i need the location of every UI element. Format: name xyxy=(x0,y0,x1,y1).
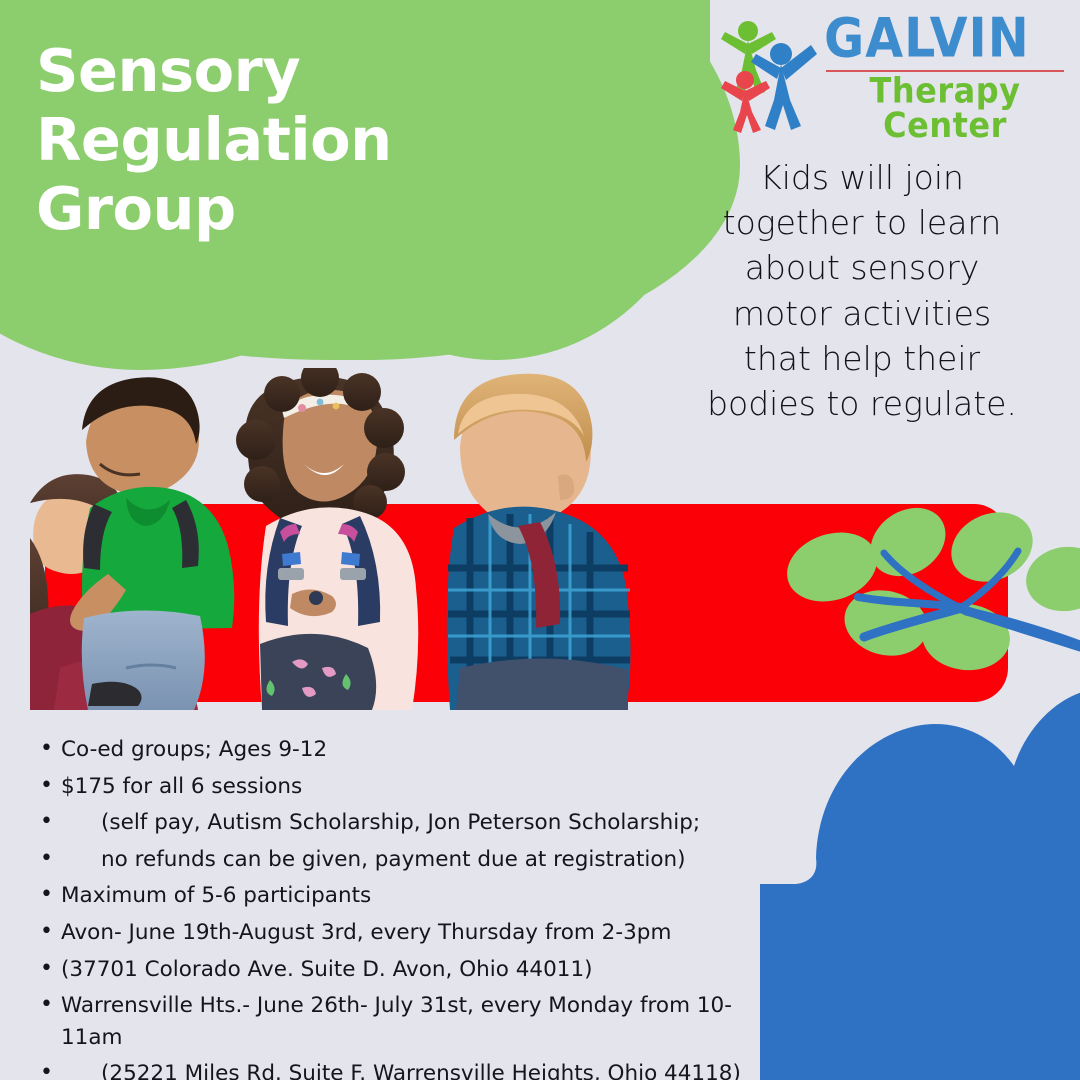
child-2-green-shirt xyxy=(70,377,234,710)
details-bullet-list: Co-ed groups; Ages 9-12 $175 for all 6 s… xyxy=(34,734,746,1080)
galvin-therapy-center-logo: GALVIN Therapy Center xyxy=(718,16,1066,138)
bullet-text: Avon- June 19th-August 3rd, every Thursd… xyxy=(61,920,671,945)
description-text: Kids will join together to learn about s… xyxy=(662,155,1062,426)
description-line-4: motor activities xyxy=(662,291,1062,336)
description-line-6: bodies to regulate. xyxy=(662,381,1062,426)
title-line-1: Sensory xyxy=(36,36,596,105)
bullet-text: Warrensville Hts.- June 26th- July 31st,… xyxy=(61,993,732,1050)
bullet-text: (25221 Miles Rd. Suite F. Warrensville H… xyxy=(61,1058,741,1080)
description-line-2: together to learn xyxy=(662,200,1062,245)
bullet-text: Co-ed groups; Ages 9-12 xyxy=(61,737,327,762)
list-item: (37701 Colorado Ave. Suite D. Avon, Ohio… xyxy=(34,954,746,986)
leaf-petals xyxy=(780,495,1080,674)
blue-cloud-shape xyxy=(760,690,1080,1080)
description-line-3: about sensory xyxy=(662,245,1062,290)
logo-name-bottom: Therapy Center xyxy=(824,73,1066,142)
bullet-text: $175 for all 6 sessions xyxy=(61,774,302,799)
list-item: $175 for all 6 sessions xyxy=(34,771,746,803)
bullet-text: no refunds can be given, payment due at … xyxy=(61,844,686,876)
child-4-right xyxy=(447,374,631,710)
description-line-5: that help their xyxy=(662,336,1062,381)
list-item: Avon- June 19th-August 3rd, every Thursd… xyxy=(34,917,746,949)
logo-name-top: GALVIN xyxy=(824,12,1066,66)
kids-photo xyxy=(30,368,690,710)
list-item: Maximum of 5-6 participants xyxy=(34,880,746,912)
poster-canvas: Sensory Regulation Group xyxy=(0,0,1080,1080)
title-line-3: Group xyxy=(36,174,596,243)
description-line-1: Kids will join xyxy=(662,155,1062,200)
page-title: Sensory Regulation Group xyxy=(36,36,596,243)
logo-people-icon xyxy=(718,18,822,136)
list-item: Warrensville Hts.- June 26th- July 31st,… xyxy=(34,990,746,1053)
list-item: no refunds can be given, payment due at … xyxy=(34,844,746,876)
bullet-text: (self pay, Autism Scholarship, Jon Peter… xyxy=(61,807,700,839)
leaf-branch-icon xyxy=(780,495,1080,710)
list-item: Co-ed groups; Ages 9-12 xyxy=(34,734,746,766)
bullet-text: (37701 Colorado Ave. Suite D. Avon, Ohio… xyxy=(61,957,593,982)
child-3-center xyxy=(236,368,418,710)
title-line-2: Regulation xyxy=(36,105,596,174)
person-figure-red-icon xyxy=(721,71,770,133)
logo-wordmark: GALVIN Therapy Center xyxy=(824,14,1066,140)
list-item: (self pay, Autism Scholarship, Jon Peter… xyxy=(34,807,746,839)
bullet-text: Maximum of 5-6 participants xyxy=(61,883,371,908)
list-item: (25221 Miles Rd. Suite F. Warrensville H… xyxy=(34,1058,746,1080)
